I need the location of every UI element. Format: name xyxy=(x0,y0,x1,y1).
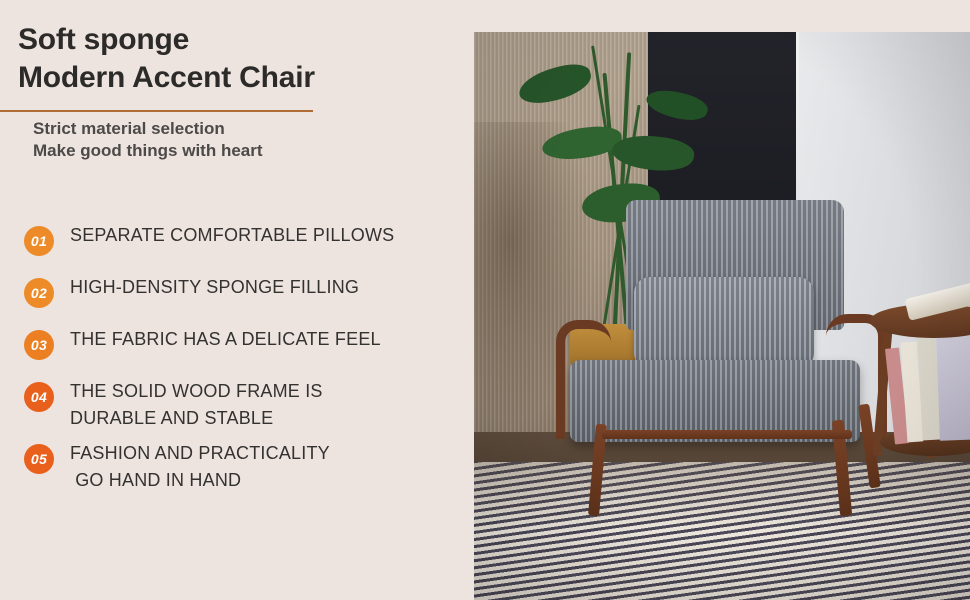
list-item: 01 SEPARATE COMFORTABLE PILLOWS xyxy=(0,222,474,274)
feature-text-05: FASHION AND PRACTICALITY GO HAND IN HAND xyxy=(70,440,460,494)
product-infographic: Soft sponge Modern Accent Chair Strict m… xyxy=(0,0,970,600)
feature-badge-01: 01 xyxy=(24,226,54,256)
photo-vignette xyxy=(474,32,970,600)
text-panel: Soft sponge Modern Accent Chair Strict m… xyxy=(0,0,474,600)
feature-text-03: THE FABRIC HAS A DELICATE FEEL xyxy=(70,326,460,353)
list-item: 02 HIGH-DENSITY SPONGE FILLING xyxy=(0,274,474,326)
list-item: 05 FASHION AND PRACTICALITY GO HAND IN H… xyxy=(0,440,474,502)
page-title: Soft sponge Modern Accent Chair xyxy=(18,21,458,97)
feature-text-04: THE SOLID WOOD FRAME IS DURABLE AND STAB… xyxy=(70,378,460,432)
feature-badge-05: 05 xyxy=(24,444,54,474)
headline-line-1: Soft sponge xyxy=(18,21,458,59)
feature-badge-04: 04 xyxy=(24,382,54,412)
feature-text-02: HIGH-DENSITY SPONGE FILLING xyxy=(70,274,460,301)
headline-line-2: Modern Accent Chair xyxy=(18,59,458,97)
list-item: 03 THE FABRIC HAS A DELICATE FEEL xyxy=(0,326,474,378)
list-item: 04 THE SOLID WOOD FRAME IS DURABLE AND S… xyxy=(0,378,474,440)
feature-badge-02: 02 xyxy=(24,278,54,308)
feature-text-01: SEPARATE COMFORTABLE PILLOWS xyxy=(70,222,460,249)
subtitle-line-2: Make good things with heart xyxy=(33,140,453,162)
product-photo xyxy=(474,32,970,600)
feature-badge-03: 03 xyxy=(24,330,54,360)
subtitle-line-1: Strict material selection xyxy=(33,118,453,140)
subtitle: Strict material selection Make good thin… xyxy=(33,118,453,162)
feature-list: 01 SEPARATE COMFORTABLE PILLOWS 02 HIGH-… xyxy=(0,222,474,502)
title-divider xyxy=(0,110,313,112)
